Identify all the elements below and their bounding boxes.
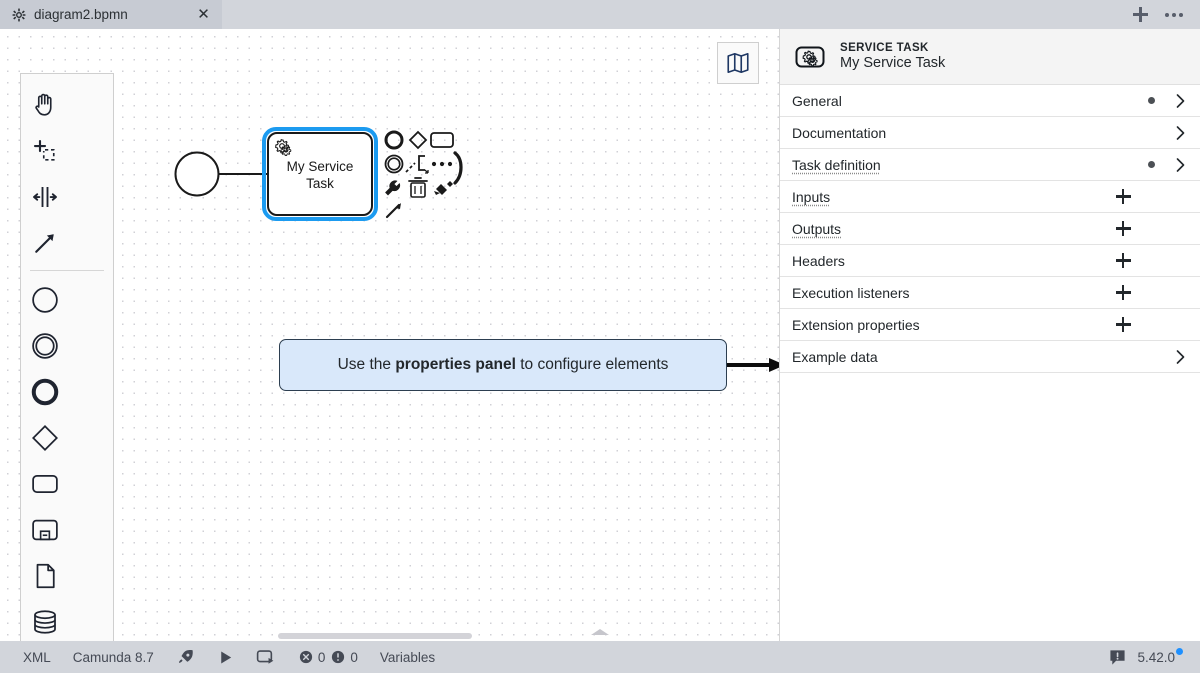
service-task-gear-icon [794, 41, 826, 73]
property-group-label: Outputs [792, 221, 1108, 237]
chevron-right-icon [1174, 94, 1186, 108]
start-event[interactable] [176, 153, 219, 196]
connect-arrow-icon[interactable] [387, 203, 401, 217]
service-task-label-line2: Task [306, 176, 334, 191]
tab-label: diagram2.bpmn [34, 7, 187, 22]
property-group-label: Extension properties [792, 317, 1108, 333]
status-start-instance-button[interactable] [245, 641, 288, 673]
warning-circle-icon [331, 650, 345, 664]
property-group-extension-properties[interactable]: Extension properties [780, 309, 1200, 341]
status-version-value: 5.42.0 [1137, 650, 1175, 665]
start-instance-icon [256, 647, 277, 668]
property-group-label: Documentation [792, 125, 1148, 141]
add-execution-listener-button[interactable] [1108, 285, 1138, 300]
property-group-task-definition[interactable]: Task definition [780, 149, 1200, 181]
context-pad [386, 132, 462, 217]
tab-bar-spacer [222, 0, 1128, 29]
properties-groups-list: General Documentation Task definition [780, 85, 1200, 641]
tab-bar: diagram2.bpmn ✕ [0, 0, 1200, 29]
status-version[interactable]: 5.42.0 [1137, 650, 1188, 665]
property-group-outputs[interactable]: Outputs [780, 213, 1200, 245]
property-group-label: Headers [792, 253, 1108, 269]
service-task[interactable]: My Service Task [268, 133, 372, 215]
canvas-horizontal-scrollbar[interactable] [278, 633, 472, 639]
plus-icon [1116, 253, 1131, 268]
tab-diagram2-bpmn[interactable]: diagram2.bpmn ✕ [0, 0, 222, 29]
feedback-icon [1109, 649, 1126, 666]
bpmn-diagram: My Service Task [0, 29, 779, 641]
append-text-annotation-icon[interactable] [406, 156, 428, 173]
chevron-right-icon [1174, 350, 1186, 364]
callout-arrow-icon [727, 357, 779, 373]
update-available-dot-icon [1176, 648, 1183, 655]
properties-panel: SERVICE TASK My Service Task General Doc… [780, 29, 1200, 641]
callout-text-before: Use the [338, 356, 396, 373]
status-error-count: 0 [299, 650, 326, 665]
plus-icon [1116, 221, 1131, 236]
status-run-button[interactable] [206, 641, 245, 673]
plus-icon [1133, 7, 1148, 22]
property-group-inputs[interactable]: Inputs [780, 181, 1200, 213]
property-group-documentation[interactable]: Documentation [780, 117, 1200, 149]
add-header-button[interactable] [1108, 253, 1138, 268]
status-deploy-button[interactable] [165, 641, 206, 673]
status-warning-count: 0 [331, 650, 358, 665]
property-group-label: Execution listeners [792, 285, 1108, 301]
property-group-label: Example data [792, 349, 1148, 365]
property-group-headers[interactable]: Headers [780, 245, 1200, 277]
append-intermediate-event-icon[interactable] [386, 156, 403, 173]
plus-icon [1116, 317, 1131, 332]
group-configured-dot-icon [1148, 97, 1155, 104]
camunda-modeler-window: diagram2.bpmn ✕ [0, 0, 1200, 673]
context-pad-more-icon[interactable] [432, 162, 452, 166]
chevron-right-icon [1174, 158, 1186, 172]
bpmn-canvas[interactable]: My Service Task [0, 29, 779, 641]
play-icon [217, 649, 234, 666]
delete-icon[interactable] [409, 178, 427, 197]
canvas-bottom-resizer[interactable] [0, 629, 779, 641]
status-xml-button[interactable]: XML [12, 641, 62, 673]
chevron-right-icon [1174, 126, 1186, 140]
status-error-count-value: 0 [318, 650, 326, 665]
append-task-icon[interactable] [431, 133, 453, 147]
error-circle-icon [299, 650, 313, 664]
properties-panel-header: SERVICE TASK My Service Task [780, 29, 1200, 85]
element-type-label: SERVICE TASK [840, 42, 945, 54]
element-name-label: My Service Task [840, 55, 945, 71]
wrench-icon[interactable] [386, 181, 400, 195]
properties-panel-callout: Use the properties panel to configure el… [279, 339, 727, 391]
connect-icon[interactable] [455, 153, 461, 183]
bpmn-gear-icon [12, 8, 26, 22]
status-engine-version-button[interactable]: Camunda 8.7 [62, 641, 165, 673]
canvas-resize-handle-icon[interactable] [591, 629, 609, 635]
add-output-button[interactable] [1108, 221, 1138, 236]
property-group-label: General [792, 93, 1148, 109]
plus-icon [1116, 189, 1131, 204]
tab-close-icon[interactable]: ✕ [195, 6, 212, 23]
tab-bar-actions [1128, 0, 1200, 29]
callout-text: Use the properties panel to configure el… [338, 356, 669, 374]
tab-overflow-menu-button[interactable] [1162, 3, 1186, 27]
service-task-label-line1: My Service [287, 159, 354, 174]
new-tab-button[interactable] [1128, 3, 1152, 27]
add-input-button[interactable] [1108, 189, 1138, 204]
properties-panel-header-text: SERVICE TASK My Service Task [840, 42, 945, 71]
set-color-icon[interactable] [434, 181, 453, 195]
group-configured-dot-icon [1148, 161, 1155, 168]
append-gateway-icon[interactable] [410, 132, 426, 148]
property-group-execution-listeners[interactable]: Execution listeners [780, 277, 1200, 309]
status-feedback-button[interactable] [1098, 641, 1137, 673]
callout-text-after: to configure elements [516, 356, 669, 373]
main-area: My Service Task [0, 29, 1200, 641]
status-variables-button[interactable]: Variables [369, 641, 446, 673]
property-group-label: Task definition [792, 157, 1148, 173]
status-warning-count-value: 0 [350, 650, 358, 665]
add-extension-property-button[interactable] [1108, 317, 1138, 332]
rocket-icon [176, 648, 195, 667]
status-problems-button[interactable]: 0 0 [288, 650, 369, 665]
status-bar: XML Camunda 8.7 [0, 641, 1200, 673]
append-end-event-icon[interactable] [386, 132, 402, 148]
property-group-label: Inputs [792, 189, 1108, 205]
callout-text-bold: properties panel [395, 356, 516, 373]
plus-icon [1116, 285, 1131, 300]
property-group-example-data[interactable]: Example data [780, 341, 1200, 373]
ellipsis-icon [1165, 13, 1183, 17]
property-group-general[interactable]: General [780, 85, 1200, 117]
